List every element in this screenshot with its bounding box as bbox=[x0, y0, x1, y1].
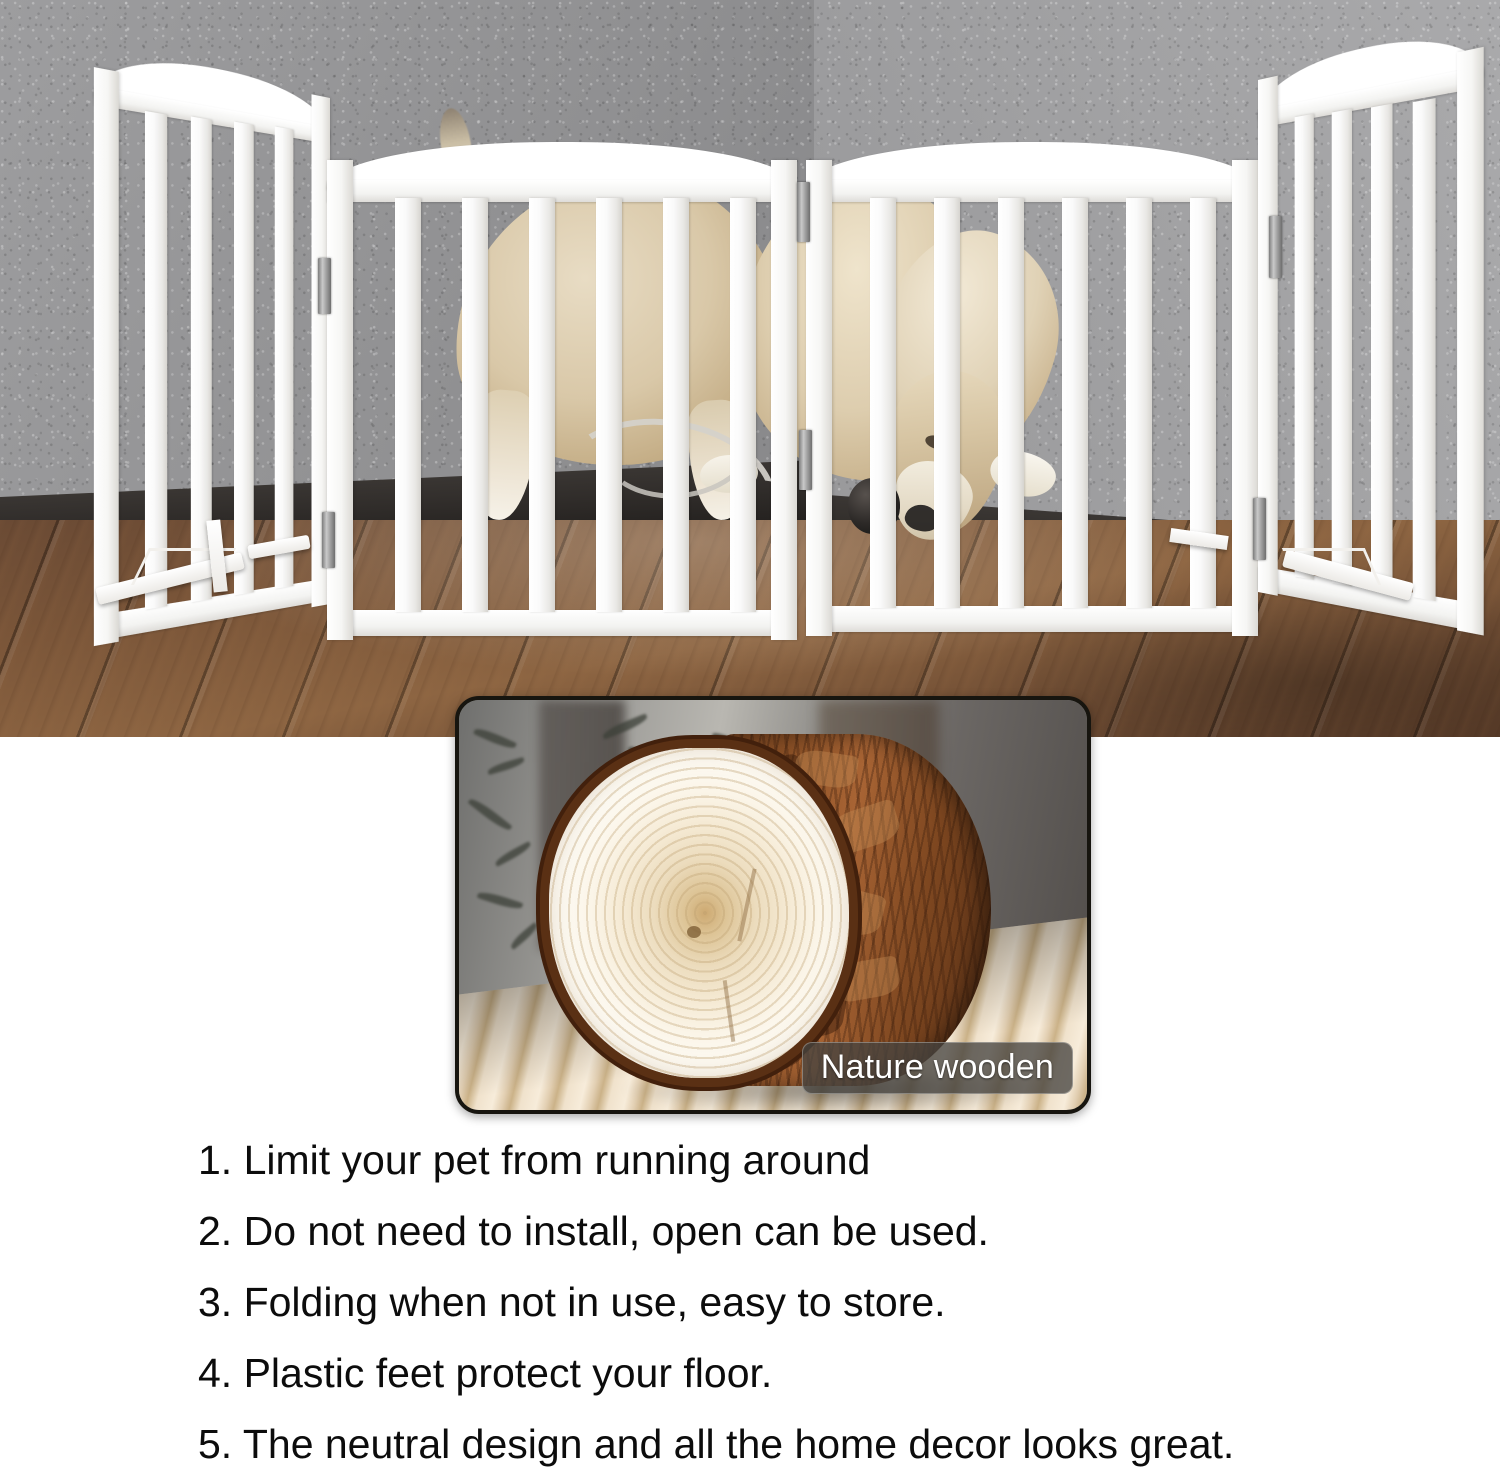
panel-2-slat bbox=[529, 198, 555, 612]
panel-2-left-stile bbox=[327, 160, 353, 640]
hinge-panel-3-4-bottom bbox=[1253, 498, 1266, 560]
wood-log bbox=[549, 734, 991, 1092]
log-pith-center bbox=[687, 926, 701, 938]
panel-4-slat bbox=[1371, 104, 1393, 594]
nature-wooden-badge: Nature wooden bbox=[802, 1042, 1073, 1094]
panel-1-slat bbox=[145, 111, 167, 610]
feature-item-4: 4. Plastic feet protect your floor. bbox=[198, 1353, 1478, 1394]
panel-2-slat bbox=[462, 198, 488, 612]
panel-4-slat bbox=[1413, 98, 1436, 601]
hinge-panel-2-3-top bbox=[797, 182, 810, 242]
panel-2-slat bbox=[395, 198, 421, 612]
feature-item-5: 5. The neutral design and all the home d… bbox=[198, 1424, 1478, 1465]
product-image-page: Nature wooden 1. Limit your pet from run… bbox=[0, 0, 1500, 1478]
panel-1-left-stile bbox=[94, 67, 119, 646]
log-cut-face-growth-rings bbox=[549, 748, 849, 1078]
panel-2-slat bbox=[663, 198, 689, 612]
hinge-panel-3-4-top bbox=[1269, 216, 1282, 278]
panel-3-slat bbox=[1062, 198, 1088, 608]
panel-3-slat bbox=[998, 198, 1024, 608]
panel-3-slat bbox=[1126, 198, 1152, 608]
panel-4-slat bbox=[1332, 109, 1352, 587]
panel-4-slat bbox=[1295, 114, 1314, 580]
panel-2-slat bbox=[596, 198, 622, 612]
panel-3-right-stile bbox=[1232, 160, 1258, 636]
hinge-panel-2-3-bottom bbox=[799, 430, 812, 490]
inset-wood-closeup-photo: Nature wooden bbox=[455, 696, 1091, 1114]
pet-gate-panel-2 bbox=[327, 140, 797, 652]
feature-item-1: 1. Limit your pet from running around bbox=[198, 1140, 1478, 1181]
panel-4-right-stile bbox=[1457, 47, 1484, 636]
panel-1-slat bbox=[234, 122, 254, 596]
main-product-photo bbox=[0, 0, 1500, 737]
panel-2-bottom-rail bbox=[327, 610, 797, 636]
feature-list: 1. Limit your pet from running around 2.… bbox=[198, 1140, 1478, 1478]
panel-3-bottom-rail bbox=[806, 606, 1258, 632]
feature-item-3: 3. Folding when not in use, easy to stor… bbox=[198, 1282, 1478, 1323]
nature-wooden-badge-label: Nature wooden bbox=[821, 1048, 1054, 1086]
panel-3-slat bbox=[870, 198, 896, 608]
support-foot-right-brace bbox=[1282, 548, 1381, 585]
panel-2-slat bbox=[730, 198, 756, 612]
feature-item-2: 2. Do not need to install, open can be u… bbox=[198, 1211, 1478, 1252]
panel-1-slat bbox=[275, 126, 294, 588]
panel-3-slat bbox=[934, 198, 960, 608]
hinge-panel-1-2-top bbox=[318, 258, 331, 314]
hinge-panel-1-2-bottom bbox=[322, 512, 335, 568]
pet-gate-panel-3 bbox=[806, 140, 1258, 648]
panel-2-right-stile bbox=[771, 160, 797, 640]
